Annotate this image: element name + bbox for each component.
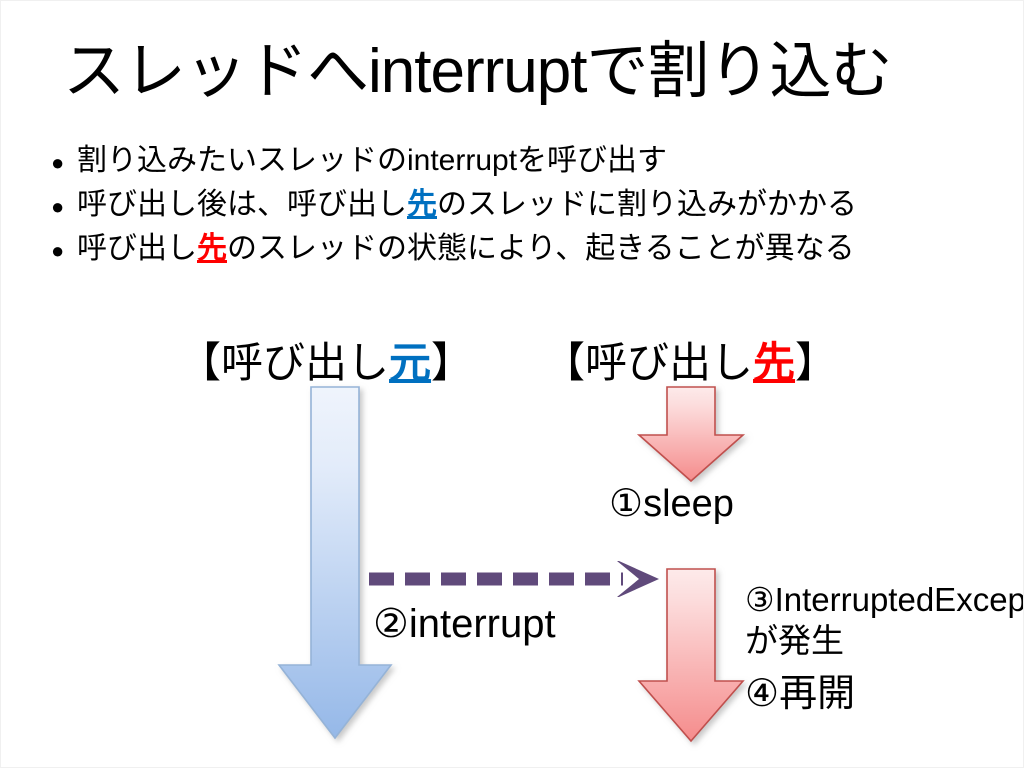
column-header-caller-prefix: 【呼び出し: [179, 339, 389, 386]
dashed-right-arrow-purple-icon: [367, 559, 663, 601]
column-header-callee-keyword: 先: [753, 339, 795, 386]
step-label-exception: ③InterruptedExceptionが発生: [745, 579, 1015, 661]
bullet-text-3-highlight-red: 先: [197, 232, 227, 265]
list-item: ● 呼び出し後は、呼び出し先のスレッドに割り込みがかかる: [51, 183, 1011, 227]
step-label-resume: ④再開: [745, 671, 855, 717]
column-header-callee: 【呼び出し先】: [543, 337, 833, 389]
bullet-text-2-span-1: 呼び出し後は、呼び出し: [77, 188, 407, 221]
bullet-list: ● 割り込みたいスレッドのinterruptを呼び出す ● 呼び出し後は、呼び出…: [51, 139, 1011, 271]
bullet-text-2-span-3: のスレッドに割り込みがかかる: [437, 188, 857, 221]
bullet-dot-icon: ●: [51, 185, 77, 229]
column-header-caller-keyword: 元: [389, 339, 431, 386]
bullet-dot-icon: ●: [51, 229, 77, 273]
bullet-text-2-highlight-blue: 先: [407, 188, 437, 221]
step-label-sleep: ①sleep: [609, 481, 734, 527]
downward-block-arrow-pink-short-icon: [639, 387, 743, 483]
step-label-interrupt: ②interrupt: [373, 601, 556, 647]
bullet-text-3-span-1: 呼び出し: [77, 232, 197, 265]
column-header-callee-suffix: 】: [795, 339, 837, 386]
bullet-text-3-span-3: のスレッドの状態により、起きることが異なる: [227, 232, 855, 265]
column-header-caller: 【呼び出し元】: [179, 337, 469, 389]
column-header-caller-suffix: 】: [431, 339, 473, 386]
bullet-text-1: 割り込みたいスレッドのinterruptを呼び出す: [77, 139, 667, 183]
bullet-text-3: 呼び出し先のスレッドの状態により、起きることが異なる: [77, 227, 855, 271]
bullet-text-2: 呼び出し後は、呼び出し先のスレッドに割り込みがかかる: [77, 183, 857, 227]
bullet-dot-icon: ●: [51, 141, 77, 185]
bullet-text-1-span-1: 割り込みたいスレッドのinterruptを呼び出す: [77, 144, 667, 177]
slide-canvas: スレッドへinterruptで割り込む ● 割り込みたいスレッドのinterru…: [0, 0, 1024, 768]
column-header-callee-prefix: 【呼び出し: [543, 339, 753, 386]
page-title: スレッドへinterruptで割り込む: [63, 35, 973, 109]
list-item: ● 呼び出し先のスレッドの状態により、起きることが異なる: [51, 227, 1011, 271]
list-item: ● 割り込みたいスレッドのinterruptを呼び出す: [51, 139, 1011, 183]
